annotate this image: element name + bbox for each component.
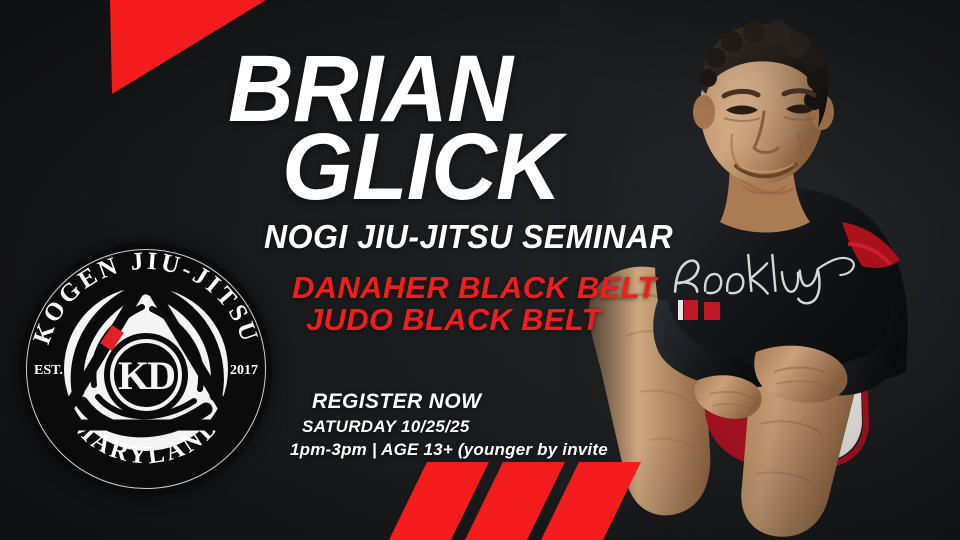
instructor-last-name: GLICK <box>282 128 561 208</box>
event-date: SATURDAY 10/25/25 <box>302 417 608 437</box>
kogen-jiu-jitsu-logo: KOGEN JIU-JITSU MARYLAND EST. 2017 <box>20 243 272 495</box>
credential-line-1: DANAHER BLACK BELT <box>292 270 657 305</box>
logo-arc-top-text: KOGEN JIU-JITSU <box>28 248 263 348</box>
logo-est-year: 2017 <box>230 363 258 378</box>
credentials-block: DANAHER BLACK BELT JUDO BLACK BELT <box>292 272 657 336</box>
event-subtitle: NOGI JIU-JITSU SEMINAR <box>264 218 673 256</box>
register-now-heading[interactable]: REGISTER NOW <box>312 390 608 414</box>
event-time-and-age: 1pm-3pm | AGE 13+ (younger by invite <box>290 440 608 460</box>
logo-monogram-text: KD <box>118 353 174 398</box>
logo-est-label: EST. <box>34 363 63 378</box>
registration-block: REGISTER NOW SATURDAY 10/25/25 1pm-3pm |… <box>290 390 608 460</box>
logo-red-accent <box>106 329 118 347</box>
seminar-poster: BRIAN GLICK NOGI JIU-JITSU SEMINAR DANAH… <box>0 0 960 540</box>
logo-artwork: KOGEN JIU-JITSU MARYLAND EST. 2017 <box>20 243 272 495</box>
credential-line-2: JUDO BLACK BELT <box>306 304 657 336</box>
